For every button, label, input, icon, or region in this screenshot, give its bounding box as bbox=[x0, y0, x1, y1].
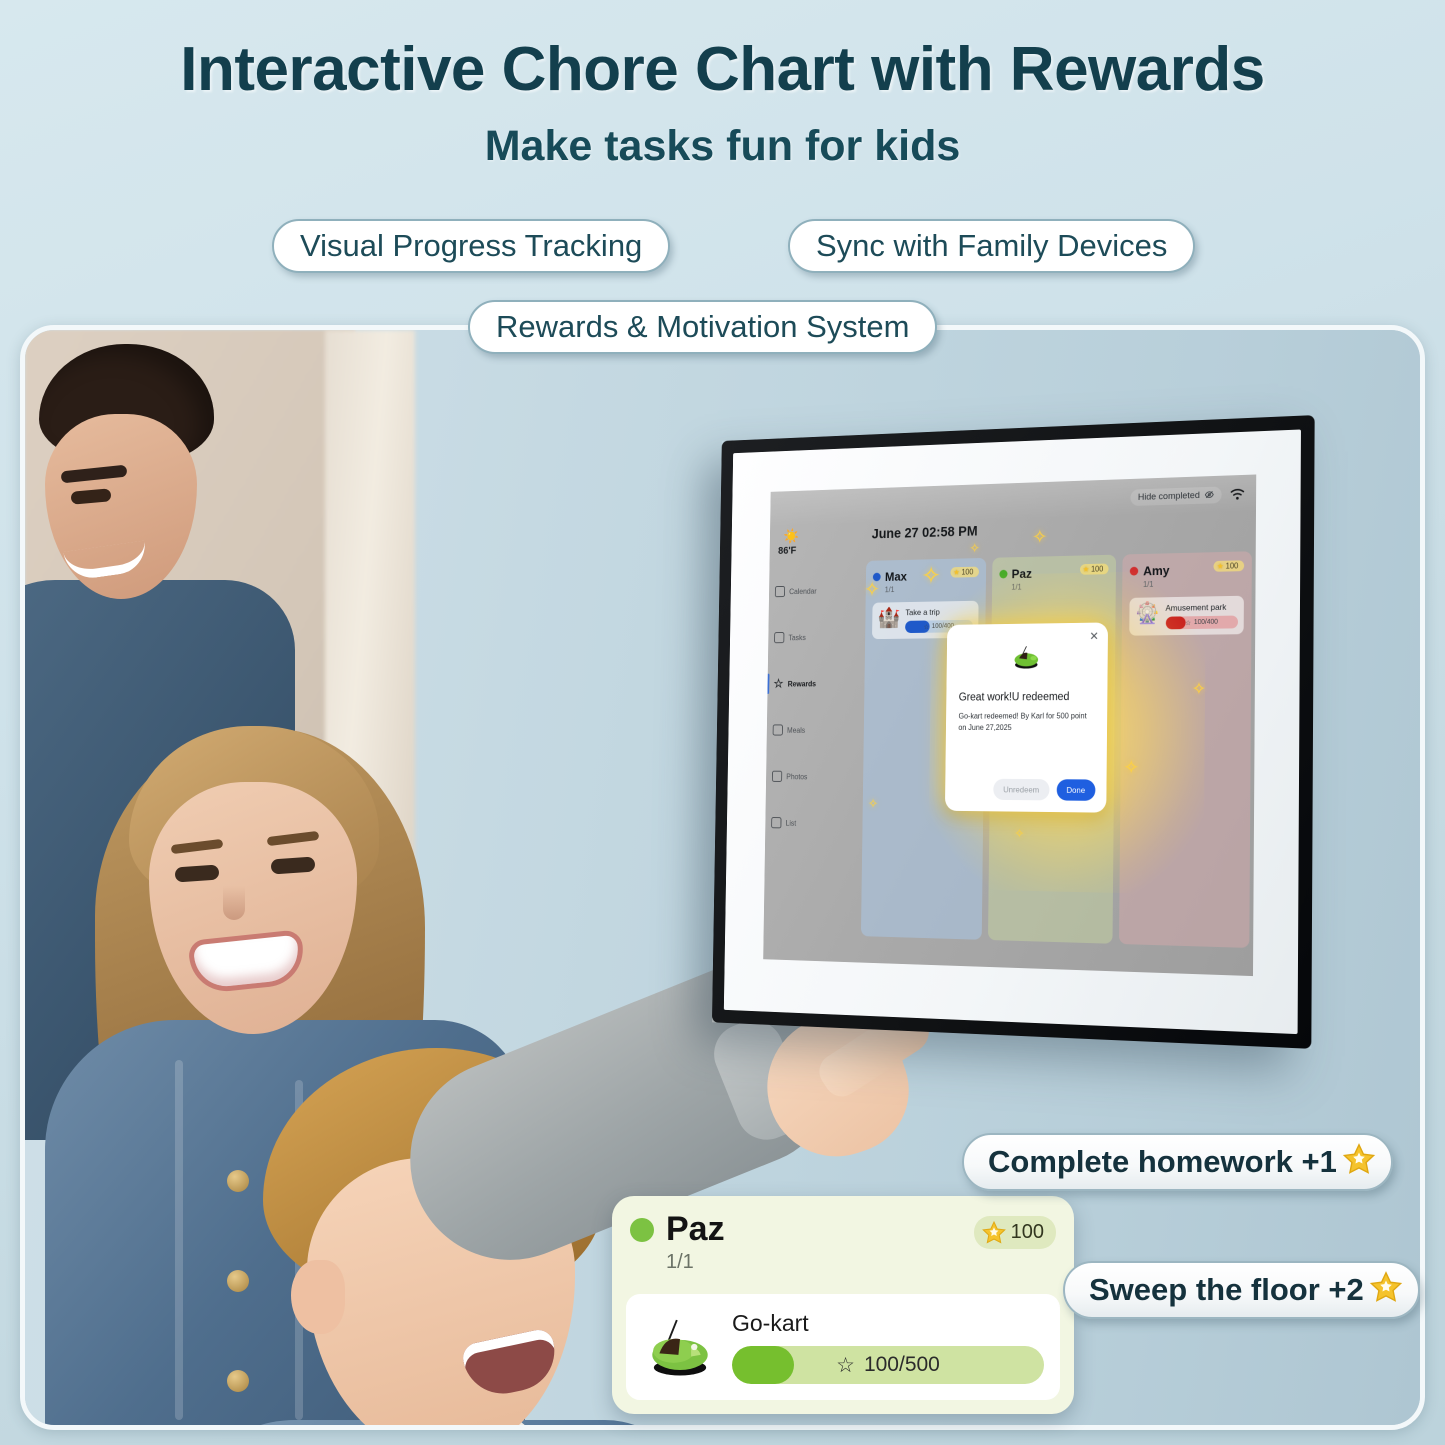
kid-points-value: 100 bbox=[1226, 561, 1239, 570]
reward-progress-bar: ☆ 100/500 bbox=[732, 1346, 1044, 1384]
wall-display-device: Hide completed bbox=[712, 415, 1315, 1049]
paz-reward-details: Go-kart ☆ 100/500 bbox=[732, 1310, 1044, 1384]
kid-task-fraction: 1/1 bbox=[666, 1251, 1056, 1274]
list-icon bbox=[771, 817, 781, 828]
sidebar-item-label: Rewards bbox=[788, 679, 816, 688]
sidebar-item-label: Tasks bbox=[788, 633, 805, 642]
datetime-display: June 27 02:58 PM bbox=[872, 524, 978, 542]
gold-star-icon bbox=[1368, 1270, 1404, 1310]
sidebar-item-label: Photos bbox=[786, 772, 807, 781]
gold-star-icon bbox=[981, 1220, 1007, 1245]
unredeem-button[interactable]: Unredeem bbox=[993, 779, 1049, 801]
gold-star-icon: ★ bbox=[1083, 565, 1090, 574]
feature-pill-visual-progress-tracking: Visual Progress Tracking bbox=[272, 219, 670, 273]
kid-color-dot bbox=[873, 573, 881, 582]
gold-star-icon: ★ bbox=[1217, 562, 1224, 571]
star-icon: ☆ bbox=[773, 678, 783, 689]
gold-star-icon bbox=[1341, 1142, 1377, 1182]
page-title: Interactive Chore Chart with Rewards bbox=[0, 34, 1445, 105]
tv-bezel: Hide completed bbox=[712, 415, 1315, 1049]
castle-icon: 🏰 bbox=[877, 608, 900, 629]
reward-progress-bar: ☆ 100/400 bbox=[1165, 616, 1238, 630]
reward-redeemed-modal: ✕ Great work!U redeemed Go-kart redeemed… bbox=[945, 622, 1108, 812]
callout-sweep-the-floor: Sweep the floor +2 bbox=[1063, 1261, 1420, 1319]
feature-pill-sync-with-family-devices: Sync with Family Devices bbox=[788, 219, 1195, 273]
hide-completed-label: Hide completed bbox=[1138, 490, 1200, 503]
tasks-icon bbox=[774, 632, 784, 643]
tv-screen[interactable]: Hide completed bbox=[763, 474, 1256, 976]
kid-points-badge: ★ 100 bbox=[951, 567, 979, 578]
reward-progress-label-wrap: ☆ 100/500 bbox=[732, 1346, 1044, 1384]
sidebar-item-meals[interactable]: Meals bbox=[767, 718, 816, 742]
page-subtitle: Make tasks fun for kids bbox=[0, 122, 1445, 171]
star-outline-icon: ☆ bbox=[924, 623, 930, 631]
go-kart-icon bbox=[959, 644, 1095, 675]
callout-label: Sweep the floor +2 bbox=[1089, 1272, 1364, 1308]
kid-task-fraction: 1/1 bbox=[1011, 581, 1108, 592]
kid-points-badge: ★ 100 bbox=[1214, 560, 1244, 571]
sidebar-item-tasks[interactable]: Tasks bbox=[768, 625, 817, 650]
boy-ear bbox=[291, 1260, 345, 1334]
feature-pill-label: Rewards & Motivation System bbox=[496, 309, 909, 345]
ferris-wheel-icon: 🎡 bbox=[1135, 603, 1160, 625]
kid-name: Amy bbox=[1143, 563, 1170, 578]
kid-points-badge: ★ 100 bbox=[1080, 564, 1109, 575]
feature-pill-label: Visual Progress Tracking bbox=[300, 228, 642, 264]
meals-icon bbox=[773, 724, 783, 735]
mother-eye-right bbox=[271, 856, 316, 874]
marketing-header: Interactive Chore Chart with Rewards Mak… bbox=[0, 0, 1445, 325]
kid-name: Paz bbox=[666, 1210, 725, 1249]
wifi-icon bbox=[1230, 487, 1244, 500]
close-icon[interactable]: ✕ bbox=[1089, 629, 1098, 643]
temperature-value: 86'F bbox=[778, 543, 870, 557]
kid-points-badge: 100 bbox=[974, 1216, 1056, 1249]
star-outline-icon: ☆ bbox=[836, 1353, 855, 1378]
kid-points-value: 100 bbox=[1091, 565, 1103, 574]
paz-reward-card[interactable]: Paz 1/1 100 Go-kart bbox=[612, 1196, 1074, 1414]
calendar-icon bbox=[775, 586, 785, 597]
kid-task-fraction: 1/1 bbox=[885, 584, 979, 594]
kid-name: Paz bbox=[1012, 566, 1032, 581]
reward-name: Amusement park bbox=[1165, 602, 1238, 613]
sidebar-item-calendar[interactable]: Calendar bbox=[769, 579, 818, 604]
star-outline-icon: ☆ bbox=[1185, 619, 1191, 627]
sidebar-item-list[interactable]: List bbox=[765, 810, 814, 835]
sidebar-item-label: Meals bbox=[787, 726, 805, 734]
tv-mat-border: Hide completed bbox=[724, 429, 1301, 1034]
photos-icon bbox=[772, 771, 782, 782]
feature-pill-rewards-motivation-system: Rewards & Motivation System bbox=[468, 300, 937, 354]
kid-color-dot bbox=[1130, 567, 1138, 576]
modal-actions: Unredeem Done bbox=[993, 779, 1095, 801]
modal-description: Go-kart redeemed! By Karl for 500 point … bbox=[958, 711, 1094, 733]
reward-progress-label-wrap: ☆ 100/400 bbox=[1165, 616, 1238, 630]
kid-task-fraction: 1/1 bbox=[1143, 578, 1244, 589]
reward-name: Take a trip bbox=[905, 607, 972, 618]
weather-widget: ☀️ 86'F bbox=[776, 525, 870, 556]
sidebar-item-label: Calendar bbox=[789, 587, 817, 596]
reward-progress-label: 100/500 bbox=[864, 1353, 940, 1377]
callout-complete-homework: Complete homework +1 bbox=[962, 1133, 1393, 1191]
modal-title: Great work!U redeemed bbox=[959, 691, 1095, 703]
app-sidebar: Calendar Tasks ☆ Rewards Meals bbox=[763, 525, 819, 961]
eye-off-icon bbox=[1205, 490, 1215, 500]
gold-star-icon: ★ bbox=[953, 568, 959, 577]
hide-completed-toggle[interactable]: Hide completed bbox=[1130, 486, 1221, 506]
kid-column-amy[interactable]: Amy 1/1 ★ 100 🎡 Amusem bbox=[1119, 551, 1252, 948]
mother-nose bbox=[223, 886, 245, 920]
reward-progress-label: 100/400 bbox=[1194, 619, 1218, 626]
go-kart-icon bbox=[642, 1315, 718, 1379]
kid-points-value: 100 bbox=[1011, 1221, 1044, 1244]
mother-eye-left bbox=[175, 864, 220, 882]
sun-icon: ☀️ bbox=[783, 525, 870, 544]
sidebar-item-photos[interactable]: Photos bbox=[766, 764, 815, 788]
sidebar-item-label: List bbox=[786, 819, 797, 828]
callout-label: Complete homework +1 bbox=[988, 1144, 1337, 1180]
reward-task-row[interactable]: 🎡 Amusement park ☆ 100/400 bbox=[1130, 596, 1244, 636]
kid-color-dot bbox=[630, 1218, 654, 1242]
reward-name: Go-kart bbox=[732, 1310, 1044, 1337]
sidebar-item-rewards[interactable]: ☆ Rewards bbox=[767, 671, 816, 695]
kid-color-dot bbox=[999, 570, 1007, 579]
feature-pill-label: Sync with Family Devices bbox=[816, 228, 1167, 264]
paz-reward-task-row[interactable]: Go-kart ☆ 100/500 bbox=[626, 1294, 1060, 1400]
done-button[interactable]: Done bbox=[1056, 779, 1095, 801]
kid-name: Max bbox=[885, 569, 907, 584]
kid-points-value: 100 bbox=[961, 568, 973, 577]
